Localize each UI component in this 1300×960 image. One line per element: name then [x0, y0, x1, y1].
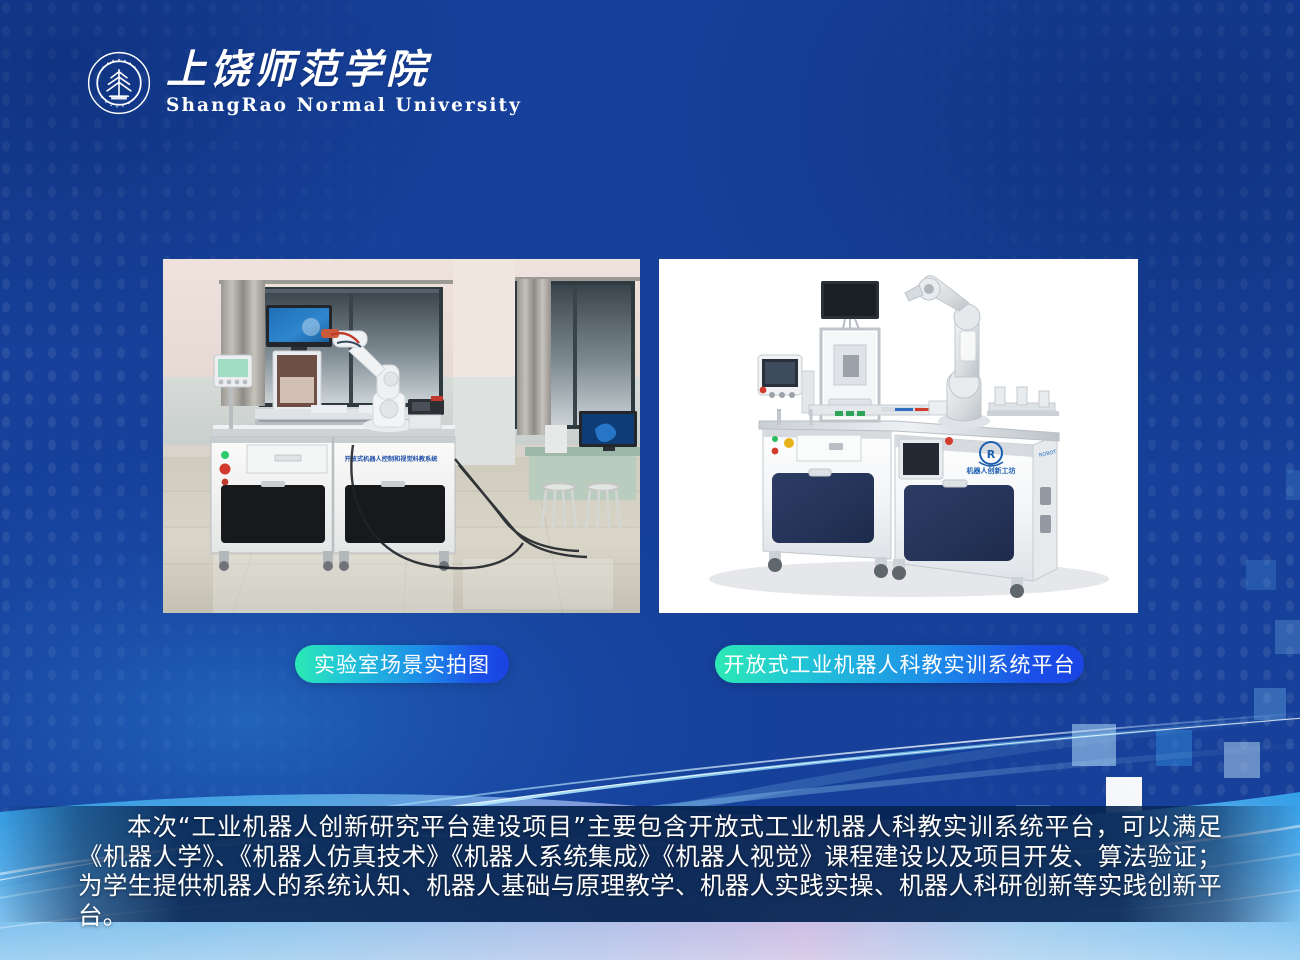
photo-lab-scene-image: 开放式机器人控制和视觉科教系统 [163, 259, 640, 613]
caption-pill-platform[interactable]: 开放式工业机器人科教实训系统平台 [715, 645, 1084, 683]
logo-chinese-name: 上饶师范学院 [166, 50, 522, 90]
photo-product-render[interactable]: R 机器人创新工坊 ROBOT [659, 259, 1138, 613]
svg-text:R: R [987, 448, 996, 461]
photo-product-render-image: R 机器人创新工坊 ROBOT [659, 259, 1138, 613]
logo-text-block: 上饶师范学院 ShangRao Normal University [166, 50, 522, 116]
slide-root: 上饶师范学院 ShangRao Normal University [0, 0, 1300, 960]
logo-english-name: ShangRao Normal University [166, 97, 522, 116]
product-brand-text: 机器人创新工坊 [967, 466, 1016, 475]
caption-pill-platform-label: 开放式工业机器人科教实训系统平台 [724, 649, 1076, 679]
photo-lab-scene[interactable]: 开放式机器人控制和视觉科教系统 [163, 259, 640, 613]
body-paragraph: 本次“工业机器人创新研究平台建设项目”主要包含开放式工业机器人科教实训系统平台，… [78, 812, 1222, 930]
university-logo: 上饶师范学院 ShangRao Normal University [86, 50, 522, 116]
caption-pill-lab-scene[interactable]: 实验室场景实拍图 [295, 645, 509, 683]
machine-label-text: 开放式机器人控制和视觉科教系统 [345, 455, 439, 463]
university-seal-icon [86, 50, 152, 116]
caption-pill-lab-scene-label: 实验室场景实拍图 [314, 649, 490, 679]
